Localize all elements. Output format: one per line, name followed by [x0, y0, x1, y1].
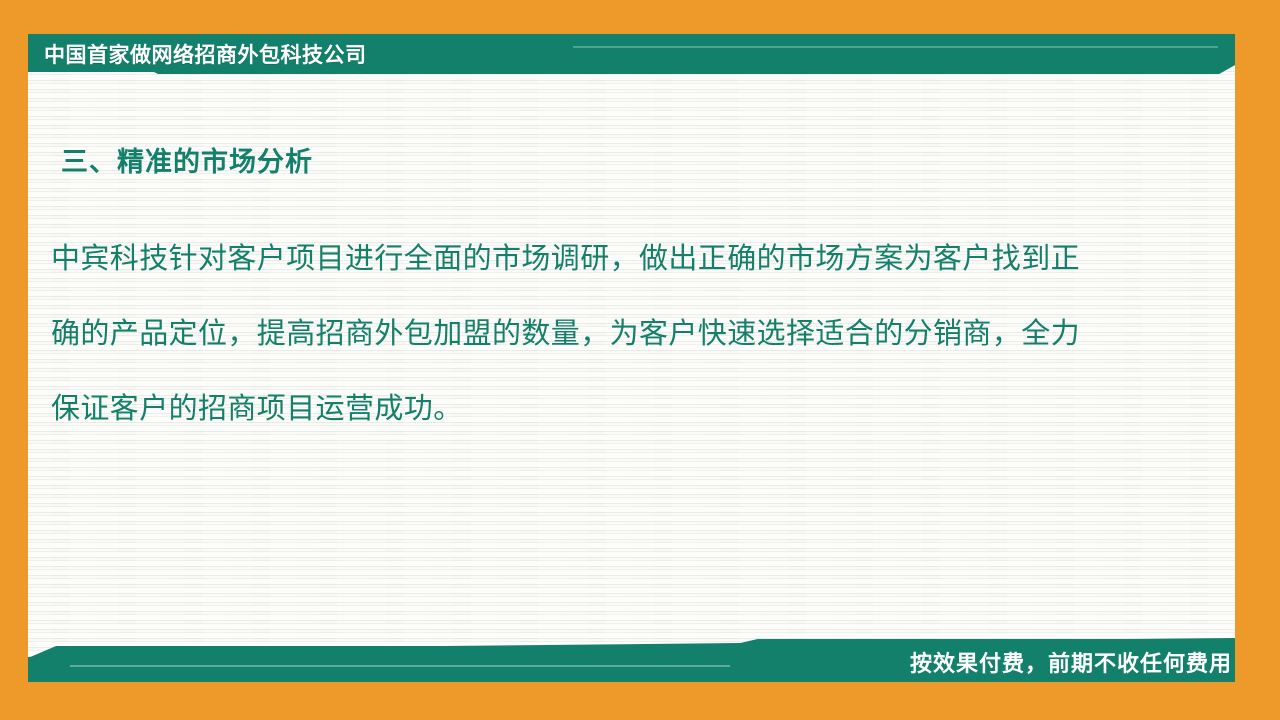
page-title: 三、精准的市场分析: [61, 140, 313, 179]
paragraph-line: 保证客户的招商项目运营成功。: [51, 372, 1201, 447]
paragraph-line: 中宾科技针对客户项目进行全面的市场调研，做出正确的市场方案为客户找到正: [51, 222, 1201, 297]
paragraph-line: 确的产品定位，提高招商外包加盟的数量，为客户快速选择适合的分销商，全力: [51, 297, 1201, 372]
footer-tagline: 按效果付费，前期不收任何费用: [910, 645, 1232, 679]
slide-content: 三、精准的市场分析 中宾科技针对客户项目进行全面的市场调研，做出正确的市场方案为…: [28, 74, 1235, 634]
body-paragraph: 中宾科技针对客户项目进行全面的市场调研，做出正确的市场方案为客户找到正 确的产品…: [51, 222, 1201, 447]
slide-canvas: 中国首家做网络招商外包科技公司 三、精准的市场分析 中宾科技针对客户项目进行全面…: [0, 0, 1280, 720]
header-title: 中国首家做网络招商外包科技公司: [44, 36, 367, 72]
